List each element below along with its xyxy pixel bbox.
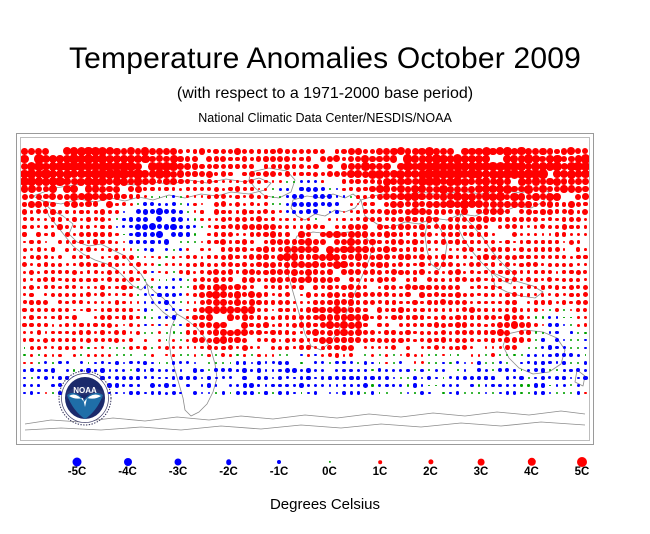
anomaly-dot [228, 187, 232, 191]
anomaly-dot [284, 262, 290, 268]
anomaly-dot [441, 262, 446, 267]
anomaly-dot [421, 377, 423, 379]
anomaly-dot [356, 262, 361, 267]
anomaly-dot [208, 392, 211, 395]
anomaly-dot [385, 384, 389, 388]
anomaly-dot [292, 164, 296, 168]
anomaly-dot [300, 225, 304, 229]
anomaly-dot [384, 262, 390, 268]
anomaly-dot [292, 285, 296, 289]
anomaly-dot [242, 376, 247, 381]
anomaly-dot [398, 239, 404, 245]
anomaly-dot [199, 307, 206, 314]
anomaly-dot [542, 332, 544, 334]
anomaly-dot [129, 277, 134, 282]
anomaly-dot [271, 316, 275, 320]
anomaly-dot [548, 376, 551, 379]
anomaly-dot [370, 316, 374, 320]
anomaly-dot [122, 369, 125, 372]
anomaly-dot [194, 354, 197, 357]
anomaly-dot [130, 248, 132, 250]
anomaly-dot [476, 216, 482, 222]
anomaly-dot [441, 293, 446, 298]
anomaly-dot [512, 255, 517, 260]
anomaly-dot [115, 233, 119, 237]
anomaly-dot [334, 292, 340, 298]
anomaly-dot [369, 239, 376, 246]
anomaly-dot [305, 269, 312, 276]
anomaly-dot [527, 233, 530, 236]
anomaly-dot [151, 347, 153, 349]
anomaly-dot [329, 384, 332, 387]
anomaly-dot [158, 339, 161, 342]
anomaly-dot [443, 377, 445, 379]
anomaly-dot [123, 362, 125, 364]
anomaly-dot [79, 210, 84, 215]
anomaly-dot [214, 156, 219, 161]
anomaly-dot [236, 361, 239, 364]
anomaly-dot [329, 392, 331, 394]
anomaly-dot [271, 300, 276, 305]
anomaly-dot [284, 239, 290, 245]
anomaly-dot [166, 279, 168, 281]
anomaly-dot [348, 269, 355, 276]
anomaly-dot [279, 203, 281, 205]
anomaly-dot [37, 323, 41, 327]
anomaly-dot [23, 278, 27, 282]
anomaly-dot [44, 255, 48, 259]
anomaly-dot [143, 187, 147, 191]
anomaly-dot [144, 286, 146, 288]
anomaly-dot [577, 263, 581, 267]
anomaly-dot [101, 248, 104, 251]
anomaly-dot [221, 247, 225, 251]
anomaly-dot [576, 300, 581, 305]
anomaly-dot [144, 279, 146, 281]
anomaly-dot [470, 240, 473, 243]
anomaly-dot [43, 201, 49, 207]
anomaly-dot [50, 209, 55, 214]
anomaly-dot [455, 269, 461, 275]
anomaly-dot [348, 292, 354, 298]
anomaly-dot [165, 203, 168, 206]
anomaly-dot [363, 338, 368, 343]
anomaly-dot [149, 148, 157, 156]
anomaly-dot [270, 277, 276, 283]
anomaly-dot [220, 336, 227, 343]
anomaly-dot [306, 209, 311, 214]
anomaly-dot [122, 330, 126, 334]
anomaly-dot [391, 217, 396, 222]
anomaly-dot [364, 346, 367, 349]
anomaly-dot [534, 361, 537, 364]
anomaly-dot [434, 308, 438, 312]
anomaly-dot [562, 376, 565, 379]
anomaly-dot [383, 155, 390, 162]
anomaly-dot [569, 293, 574, 298]
anomaly-dot [272, 361, 275, 364]
anomaly-dot [192, 156, 198, 162]
anomaly-dot [391, 338, 396, 343]
anomaly-dot [208, 369, 210, 371]
anomaly-dot [413, 331, 416, 334]
anomaly-dot [220, 156, 226, 162]
anomaly-dot [528, 347, 530, 349]
anomaly-dot [393, 354, 395, 356]
anomaly-dot [306, 322, 311, 327]
anomaly-dot [541, 300, 545, 304]
anomaly-dot [65, 323, 69, 327]
anomaly-dot [286, 188, 289, 191]
anomaly-dot [555, 346, 559, 350]
anomaly-dot [549, 233, 552, 236]
anomaly-dot [334, 329, 340, 335]
anomaly-dot [242, 368, 247, 373]
anomaly-dot [87, 354, 90, 357]
anomaly-dot [256, 216, 262, 222]
anomaly-dot [314, 180, 317, 183]
anomaly-dot [328, 353, 332, 357]
anomaly-dot [334, 239, 340, 245]
anomaly-dot [498, 384, 502, 388]
anomaly-dot [187, 301, 190, 304]
anomaly-dot [363, 300, 368, 305]
anomaly-dot [298, 239, 305, 246]
anomaly-dot [293, 181, 295, 183]
anomaly-dot [513, 263, 516, 266]
anomaly-dot [242, 224, 248, 230]
anomaly-dot [426, 193, 433, 200]
anomaly-dot [533, 186, 539, 192]
anomaly-dot [250, 187, 254, 191]
anomaly-dot [513, 369, 516, 372]
anomaly-dot [137, 384, 140, 387]
anomaly-dot [477, 255, 482, 260]
anomaly-dot [370, 278, 374, 282]
anomaly-dot [250, 217, 254, 221]
anomaly-dot [278, 369, 282, 373]
anomaly-dot [563, 392, 565, 394]
anomaly-dot [106, 193, 113, 200]
anomaly-dot [491, 240, 495, 244]
anomaly-dot [312, 254, 318, 260]
anomaly-dot [377, 217, 382, 222]
anomaly-dot [469, 225, 474, 230]
anomaly-dot [220, 322, 226, 328]
anomaly-dot [179, 392, 182, 395]
anomaly-dot [399, 369, 402, 372]
anomaly-dot [270, 156, 277, 163]
anomaly-dot [306, 254, 312, 260]
anomaly-dot [193, 203, 196, 206]
anomaly-dot [576, 368, 580, 372]
anomaly-dot [264, 164, 268, 168]
anomaly-dot [541, 240, 544, 243]
anomaly-dot [116, 354, 118, 356]
anomaly-dot [469, 330, 474, 335]
legend-dot [478, 459, 485, 466]
anomaly-dot [534, 233, 537, 236]
anomaly-dot [151, 301, 155, 305]
anomaly-dot [143, 202, 147, 206]
anomaly-dot [577, 354, 580, 357]
anomaly-dot [193, 187, 197, 191]
anomaly-dot [483, 254, 488, 259]
anomaly-dot [511, 201, 518, 208]
anomaly-dot [101, 323, 105, 327]
anomaly-dot [242, 172, 246, 176]
anomaly-dot [321, 180, 324, 183]
anomaly-dot [122, 278, 126, 282]
anomaly-dot [539, 185, 547, 193]
anomaly-dot [172, 293, 176, 297]
anomaly-dot [293, 346, 296, 349]
anomaly-dot [36, 232, 41, 237]
anomaly-dot [307, 180, 310, 183]
anomaly-dot [136, 240, 139, 243]
anomaly-dot [548, 217, 552, 221]
anomaly-dot [527, 293, 530, 296]
anomaly-dot [553, 193, 561, 201]
anomaly-dot [534, 286, 537, 289]
anomaly-dot [86, 278, 91, 283]
anomaly-dot [462, 338, 467, 343]
anomaly-dot [435, 354, 437, 356]
anomaly-dot [44, 270, 48, 274]
anomaly-dot [30, 354, 33, 357]
anomaly-dot [456, 376, 459, 379]
anomaly-dot [533, 262, 538, 267]
anomaly-dot [165, 309, 168, 312]
anomaly-dot [562, 224, 567, 229]
anomaly-dot [420, 217, 424, 221]
anomaly-dot [584, 218, 588, 222]
anomaly-dot [30, 217, 34, 221]
anomaly-dot [477, 368, 481, 372]
anomaly-dot [241, 322, 248, 329]
anomaly-dot [87, 270, 91, 274]
anomaly-dot [187, 354, 189, 356]
anomaly-dot [329, 188, 331, 190]
anomaly-dot [505, 368, 509, 372]
anomaly-dot [159, 279, 161, 281]
anomaly-dot [214, 225, 219, 230]
anomaly-dot [556, 361, 559, 364]
anomaly-dot [327, 292, 333, 298]
anomaly-dot [277, 277, 283, 283]
anomaly-dot [150, 209, 155, 214]
anomaly-dot [158, 286, 160, 288]
anomaly-dot [513, 376, 516, 379]
anomaly-dot [462, 277, 467, 282]
anomaly-dot [541, 361, 544, 364]
anomaly-dot [484, 330, 489, 335]
anomaly-dot [427, 316, 431, 320]
anomaly-dot [201, 354, 203, 356]
anomaly-dot [447, 148, 454, 155]
anomaly-dot [320, 194, 325, 199]
anomaly-dot [58, 293, 62, 297]
anomaly-dot [179, 263, 182, 266]
anomaly-dot [541, 346, 544, 349]
anomaly-dot [263, 254, 268, 259]
anomaly-dot [427, 338, 432, 343]
anomaly-dot [23, 217, 27, 221]
anomaly-dot [313, 172, 318, 177]
anomaly-dot [484, 286, 488, 290]
anomaly-dot [186, 255, 190, 259]
anomaly-dot [535, 347, 537, 349]
anomaly-dot [413, 383, 417, 387]
anomaly-dot [23, 286, 26, 289]
anomaly-dot [499, 241, 502, 244]
anomaly-dot [235, 247, 240, 252]
anomaly-dot [441, 323, 446, 328]
anomaly-dot [22, 323, 26, 327]
anomaly-dot [393, 362, 395, 364]
anomaly-dot [129, 391, 132, 394]
anomaly-dot [221, 262, 226, 267]
anomaly-dot [159, 362, 161, 364]
anomaly-dot [23, 256, 26, 259]
anomaly-dot [384, 209, 390, 215]
anomaly-dot [333, 254, 340, 261]
legend-label: -4C [118, 466, 137, 478]
anomaly-dot [257, 346, 260, 349]
anomaly-dot [51, 285, 55, 289]
anomaly-dot [65, 301, 68, 304]
anomaly-dot [519, 322, 525, 328]
anomaly-dot [449, 392, 451, 394]
anomaly-dot [377, 240, 382, 245]
anomaly-dot [384, 225, 389, 230]
anomaly-dot [498, 338, 502, 342]
anomaly-dot [434, 270, 439, 275]
anomaly-dot [307, 338, 311, 342]
anomaly-dot [214, 187, 219, 192]
anomaly-dot [293, 225, 297, 229]
anomaly-dot [257, 384, 260, 387]
anomaly-dot [506, 384, 509, 387]
anomaly-dot [23, 392, 26, 395]
anomaly-dot [235, 195, 239, 199]
anomaly-dot [220, 329, 227, 336]
anomaly-dot [527, 270, 530, 273]
anomaly-dot [476, 209, 481, 214]
anomaly-dot [385, 316, 388, 319]
anomaly-dot [569, 225, 574, 230]
anomaly-dot [164, 224, 170, 230]
anomaly-dot [37, 316, 41, 320]
anomaly-dot [227, 314, 233, 320]
anomaly-dot [485, 362, 487, 364]
anomaly-dot [106, 186, 113, 193]
anomaly-dot [242, 314, 248, 320]
anomaly-dot [470, 346, 473, 349]
anomaly-dot [242, 269, 248, 275]
anomaly-dot [520, 392, 522, 394]
anomaly-dot [527, 285, 531, 289]
anomaly-dot [51, 338, 55, 342]
anomaly-dot [464, 369, 467, 372]
anomaly-dot [142, 224, 148, 230]
anomaly-dot [286, 210, 289, 213]
anomaly-dot [370, 232, 375, 237]
anomaly-dot [355, 329, 362, 336]
anomaly-dot [462, 307, 467, 312]
anomaly-dot [172, 354, 175, 357]
anomaly-dot [186, 263, 190, 267]
anomaly-dot [484, 376, 487, 379]
anomaly-dot [392, 263, 396, 267]
anomaly-dot [534, 300, 539, 305]
anomaly-dot [469, 262, 474, 267]
anomaly-dot [348, 330, 354, 336]
anomaly-dot [541, 376, 545, 380]
anomaly-dot [549, 309, 551, 311]
anomaly-dot [385, 323, 389, 327]
anomaly-dot [377, 338, 382, 343]
anomaly-dot [399, 248, 403, 252]
anomaly-dot [36, 255, 41, 260]
anomaly-dot [327, 269, 333, 275]
anomaly-dot [51, 225, 54, 228]
anomaly-dot [163, 148, 170, 155]
anomaly-dot [122, 384, 125, 387]
anomaly-dot [334, 345, 339, 350]
anomaly-dot [257, 376, 261, 380]
anomaly-dot [235, 164, 239, 168]
anomaly-dot [363, 209, 368, 214]
anomaly-dot [583, 308, 587, 312]
anomaly-dot [512, 337, 518, 343]
anomaly-dot [107, 323, 112, 328]
anomaly-dot [228, 277, 233, 282]
anomaly-dot [547, 148, 553, 154]
anomaly-dot [44, 248, 47, 251]
anomaly-dot [384, 202, 389, 207]
anomaly-dot [426, 216, 432, 222]
anomaly-dot [386, 392, 388, 394]
anomaly-dot [264, 180, 267, 183]
anomaly-dot [498, 286, 502, 290]
anomaly-dot [272, 324, 275, 327]
anomaly-dot [186, 225, 190, 229]
anomaly-dot [349, 353, 353, 357]
anomaly-dot [582, 193, 589, 200]
anomaly-dot [350, 196, 352, 198]
anomaly-dot [434, 292, 439, 297]
anomaly-dot [193, 293, 197, 297]
anomaly-dot [462, 217, 467, 222]
anomaly-dot [442, 271, 445, 274]
anomaly-dot [206, 322, 212, 328]
anomaly-dot [292, 157, 296, 161]
anomaly-dot [306, 315, 312, 321]
anomaly-dot [342, 391, 346, 395]
anomaly-dot [65, 285, 69, 289]
anomaly-dot [378, 331, 382, 335]
anomaly-dot [236, 210, 240, 214]
anomaly-dot [137, 271, 140, 274]
anomaly-dot [335, 376, 339, 380]
anomaly-dot [448, 262, 454, 268]
anomaly-dot [399, 384, 402, 387]
anomaly-dot [170, 148, 176, 154]
anomaly-dot [320, 300, 325, 305]
anomaly-dot [159, 196, 161, 198]
anomaly-dot [291, 246, 298, 253]
